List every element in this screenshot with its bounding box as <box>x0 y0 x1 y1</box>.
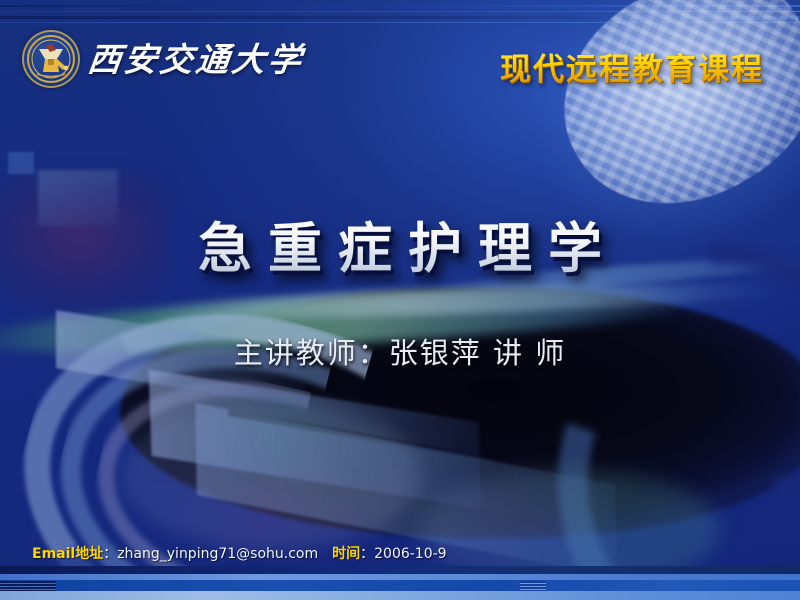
lecturer-subtitle: 主讲教师：张银萍 讲 师 <box>0 330 800 372</box>
date-separator: ： <box>360 543 374 563</box>
bottom-decorative-bar <box>0 566 800 600</box>
page-title: 急重症护理学 <box>0 204 800 283</box>
xjtu-seal-icon <box>22 30 80 88</box>
email-value: zhang_yinping71@sohu.com <box>117 546 318 562</box>
iridescent-sheen-decoration <box>120 400 420 550</box>
email-label: Email地址 <box>32 543 103 563</box>
bar-ticks-left-decoration <box>0 581 56 591</box>
date-value: 2006-10-9 <box>374 546 446 562</box>
course-banner-title: 现代远程教育课程 <box>500 44 764 89</box>
presentation-slide: 西安交通大学 现代远程教育课程 急重症护理学 主讲教师：张银萍 讲 师 Emai… <box>0 0 800 600</box>
footer-contact-info: Email地址 ： zhang_yinping71@sohu.com 时间 ： … <box>32 543 447 563</box>
university-logo: 西安交通大学 <box>22 30 304 88</box>
bar-ticks-mid-decoration <box>520 581 546 591</box>
blue-square-decoration <box>8 152 34 174</box>
date-label: 时间 <box>332 543 360 563</box>
email-separator: ： <box>103 543 117 563</box>
university-name: 西安交通大学 <box>86 43 306 76</box>
